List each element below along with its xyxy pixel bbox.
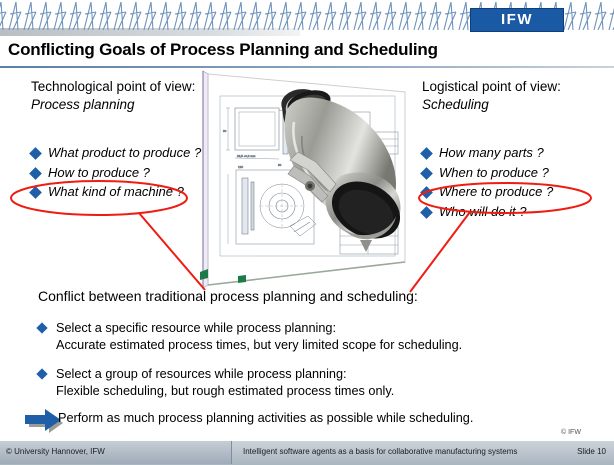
list-item: What product to produce ? (31, 145, 201, 160)
diamond-bullet-icon (420, 206, 433, 219)
list-item-label: When to produce ? (439, 165, 549, 180)
right-column-heading: Logistical point of view: (422, 78, 561, 96)
list-item-detail: Flexible scheduling, but rough estimated… (56, 383, 394, 400)
list-item-label: How many parts ? (439, 145, 544, 160)
ifw-logo: IFW (470, 8, 564, 32)
diamond-bullet-icon (420, 147, 433, 160)
slide-header: IFW (0, 0, 614, 36)
left-column-header: Technological point of view: Process pla… (31, 78, 195, 114)
list-item-label: Who will do it ? (439, 204, 526, 219)
list-item-label: What kind of machine ? (48, 184, 184, 199)
slide: IFW Conflicting Goals of Process Plannin… (0, 0, 614, 464)
list-item-detail: Accurate estimated process times, but ve… (56, 337, 462, 354)
ifw-logo-text: IFW (471, 11, 563, 28)
list-item-label: Where to produce ? (439, 184, 553, 199)
svg-text:120: 120 (238, 165, 243, 169)
diamond-bullet-icon (29, 167, 42, 180)
list-item-label: How to produce ? (48, 165, 150, 180)
diamond-bullet-icon (36, 368, 47, 379)
diamond-bullet-icon (420, 167, 433, 180)
footer-copyright: © University Hannover, IFW (6, 447, 105, 456)
conclusion-text: Perform as much process planning activit… (58, 411, 473, 425)
list-item: How many parts ? (422, 145, 553, 160)
list-item: Select a group of resources while proces… (38, 366, 598, 399)
list-item: Where to produce ? (422, 184, 553, 199)
list-item: Select a specific resource while process… (38, 320, 598, 353)
engineering-drawing-artwork: 33,5 +0,2 mm 90 120 80 (190, 66, 420, 291)
list-item: How to produce ? (31, 165, 201, 180)
svg-text:80: 80 (278, 163, 282, 167)
diamond-bullet-icon (29, 186, 42, 199)
right-column-header: Logistical point of view: Scheduling (422, 78, 561, 114)
svg-text:33,5 +0,2 mm: 33,5 +0,2 mm (237, 154, 256, 158)
list-item-label: What product to produce ? (48, 145, 201, 160)
list-item-label: Select a specific resource while process… (56, 320, 462, 337)
right-column-subheading: Scheduling (422, 96, 561, 114)
left-bullet-list: What product to produce ? How to produce… (31, 145, 201, 204)
right-bullet-list: How many parts ? When to produce ? Where… (422, 145, 553, 223)
diamond-bullet-icon (420, 186, 433, 199)
footer-slide-number: Slide 10 (577, 447, 606, 456)
list-item-label: Select a group of resources while proces… (56, 366, 394, 383)
diamond-bullet-icon (29, 147, 42, 160)
list-item: What kind of machine ? (31, 184, 201, 199)
footer-subject: Intelligent software agents as a basis f… (243, 447, 517, 456)
diamond-bullet-icon (36, 322, 47, 333)
slide-footer: © University Hannover, IFW Intelligent s… (0, 440, 614, 465)
list-item: When to produce ? (422, 165, 553, 180)
svg-text:90: 90 (223, 129, 227, 133)
left-column-heading: Technological point of view: (31, 78, 195, 96)
conflict-heading: Conflict between traditional process pla… (38, 288, 418, 304)
page-title: Conflicting Goals of Process Planning an… (8, 40, 604, 60)
left-column-subheading: Process planning (31, 96, 195, 114)
list-item: Who will do it ? (422, 204, 553, 219)
copyright-mark: © IFW (561, 429, 581, 436)
conflict-list: Select a specific resource while process… (38, 320, 598, 412)
